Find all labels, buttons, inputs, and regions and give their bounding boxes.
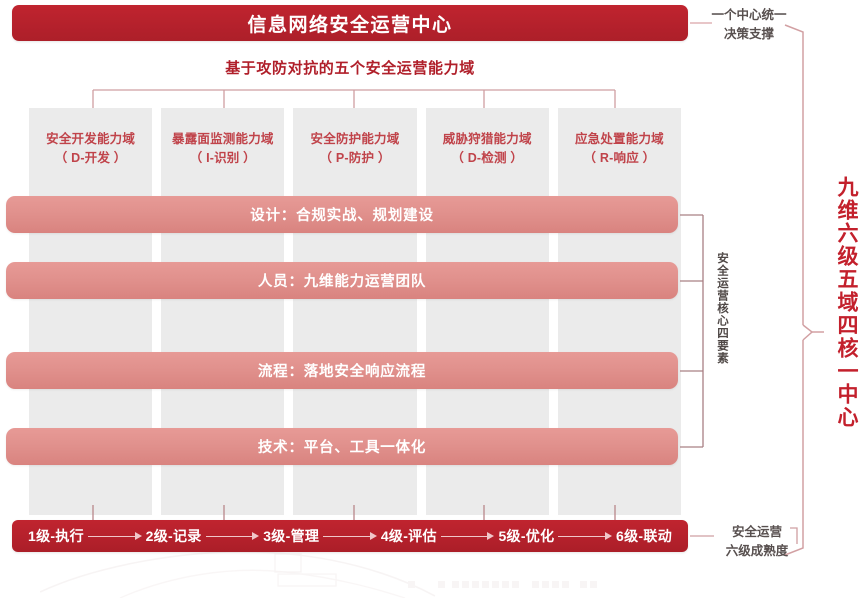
headline-vertical: 九维六级五域四核一中心 [828, 176, 858, 429]
maturity-level-3[interactable]: 3级-管理 [263, 526, 319, 546]
domain-name-1: 安全开发能力域 [46, 132, 135, 146]
arrow-right-icon-2 [206, 532, 260, 541]
maturity-level-6[interactable]: 6级-联动 [616, 526, 672, 546]
arrow-right-icon-5 [558, 532, 612, 541]
domain-name-3: 安全防护能力域 [311, 132, 400, 146]
core-element-bar-process[interactable]: 流程：落地安全响应流程 [6, 352, 678, 389]
diagram-canvas: 信息网络安全运营中心 基于攻防对抗的五个安全运营能力域 安全开发能力域 （ D-… [0, 0, 865, 598]
core-element-bar-technology[interactable]: 技术：平台、工具一体化 [6, 428, 678, 465]
core-element-label-3: 流程：落地安全响应流程 [258, 360, 426, 381]
arrow-right-icon-3 [323, 532, 377, 541]
annotation-bottom-right-line1: 安全运营 [718, 523, 796, 542]
domain-code-5: （ R-响应 ） [558, 149, 681, 168]
arrow-right-icon-1 [88, 532, 142, 541]
domain-code-4: （ D-检测 ） [426, 149, 549, 168]
domain-name-2: 暴露面监测能力域 [172, 132, 274, 146]
main-title-bar: 信息网络安全运营中心 [12, 5, 688, 41]
annotation-top-right-line2: 决策支撑 [706, 25, 792, 44]
watermark-decoration [40, 548, 600, 598]
top-bracket-connector [20, 88, 700, 110]
core-element-label-1: 设计：合规实战、规划建设 [250, 204, 434, 225]
page-title: 信息网络安全运营中心 [247, 10, 452, 37]
core-element-bar-design[interactable]: 设计：合规实战、规划建设 [6, 196, 678, 233]
annotation-core-elements: 安全运营核心四要素 [712, 252, 730, 365]
capability-domain-label-3: 安全防护能力域 （ P-防护 ） [293, 130, 416, 169]
maturity-level-5[interactable]: 5级-优化 [498, 526, 554, 546]
capability-domain-label-2: 暴露面监测能力域 （ I-识别 ） [161, 130, 284, 169]
domain-name-5: 应急处置能力域 [575, 132, 664, 146]
domain-code-1: （ D-开发 ） [29, 149, 152, 168]
maturity-level-2[interactable]: 2级-记录 [146, 526, 202, 546]
annotation-bottom-right-line2: 六级成熟度 [718, 542, 796, 561]
annotation-top-right-line1: 一个中心统一 [706, 6, 792, 25]
domain-code-2: （ I-识别 ） [161, 149, 284, 168]
core-element-bar-people[interactable]: 人员：九维能力运营团队 [6, 262, 678, 299]
maturity-level-1[interactable]: 1级-执行 [28, 526, 84, 546]
arrow-right-icon-4 [441, 532, 495, 541]
core-elements-bracket [680, 215, 703, 447]
capability-domain-label-5: 应急处置能力域 （ R-响应 ） [558, 130, 681, 169]
maturity-level-4[interactable]: 4级-评估 [381, 526, 437, 546]
capability-domain-label-4: 威胁狩猎能力域 （ D-检测 ） [426, 130, 549, 169]
maturity-level-bar: 1级-执行 2级-记录 3级-管理 4级-评估 5级-优化 6级-联动 [12, 520, 688, 552]
outer-bracket [785, 25, 824, 555]
domain-name-4: 威胁狩猎能力域 [443, 132, 532, 146]
core-element-label-2: 人员：九维能力运营团队 [258, 270, 426, 291]
core-element-label-4: 技术：平台、工具一体化 [258, 436, 426, 457]
annotation-top-right: 一个中心统一 决策支撑 [706, 6, 792, 44]
capability-domain-label-1: 安全开发能力域 （ D-开发 ） [29, 130, 152, 169]
subtitle: 基于攻防对抗的五个安全运营能力域 [12, 57, 688, 78]
annotation-bottom-right: 安全运营 六级成熟度 [718, 523, 796, 561]
domain-code-3: （ P-防护 ） [293, 149, 416, 168]
